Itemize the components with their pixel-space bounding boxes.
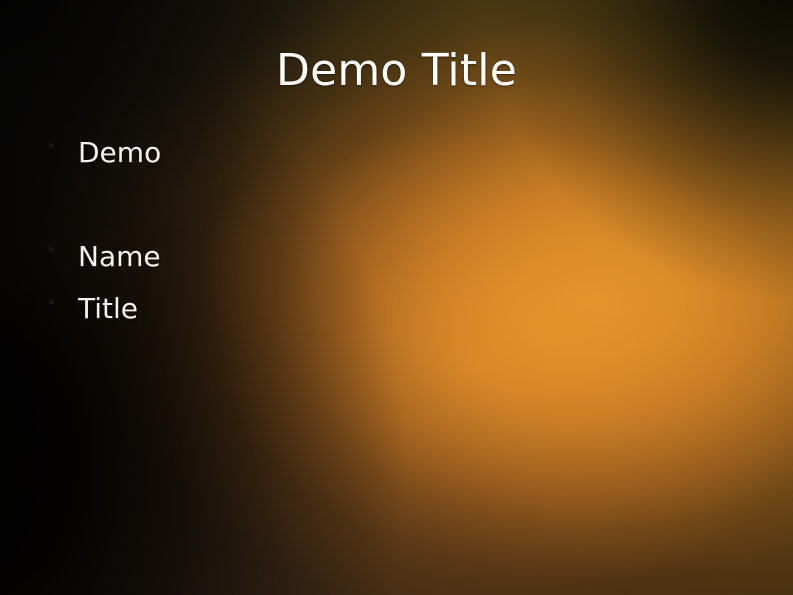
square-bullet-icon (49, 143, 54, 148)
bullet-item-name: Name (44, 238, 464, 290)
bullet-item-demo: Demo (44, 134, 464, 186)
slide-bullet-list: Demo Name Title (44, 134, 464, 342)
slide-title: Demo Title (0, 44, 793, 98)
bullet-item-label: Name (78, 238, 464, 276)
square-bullet-icon (49, 247, 54, 252)
bullet-item-blank (44, 186, 464, 238)
bullet-item-label: Title (78, 290, 464, 328)
slide-content: Demo Title Demo Name Title (0, 0, 793, 595)
bullet-item-title: Title (44, 290, 464, 342)
presentation-slide: Demo Title Demo Name Title (0, 0, 793, 595)
bullet-item-label: Demo (78, 134, 464, 172)
square-bullet-icon (49, 299, 54, 304)
